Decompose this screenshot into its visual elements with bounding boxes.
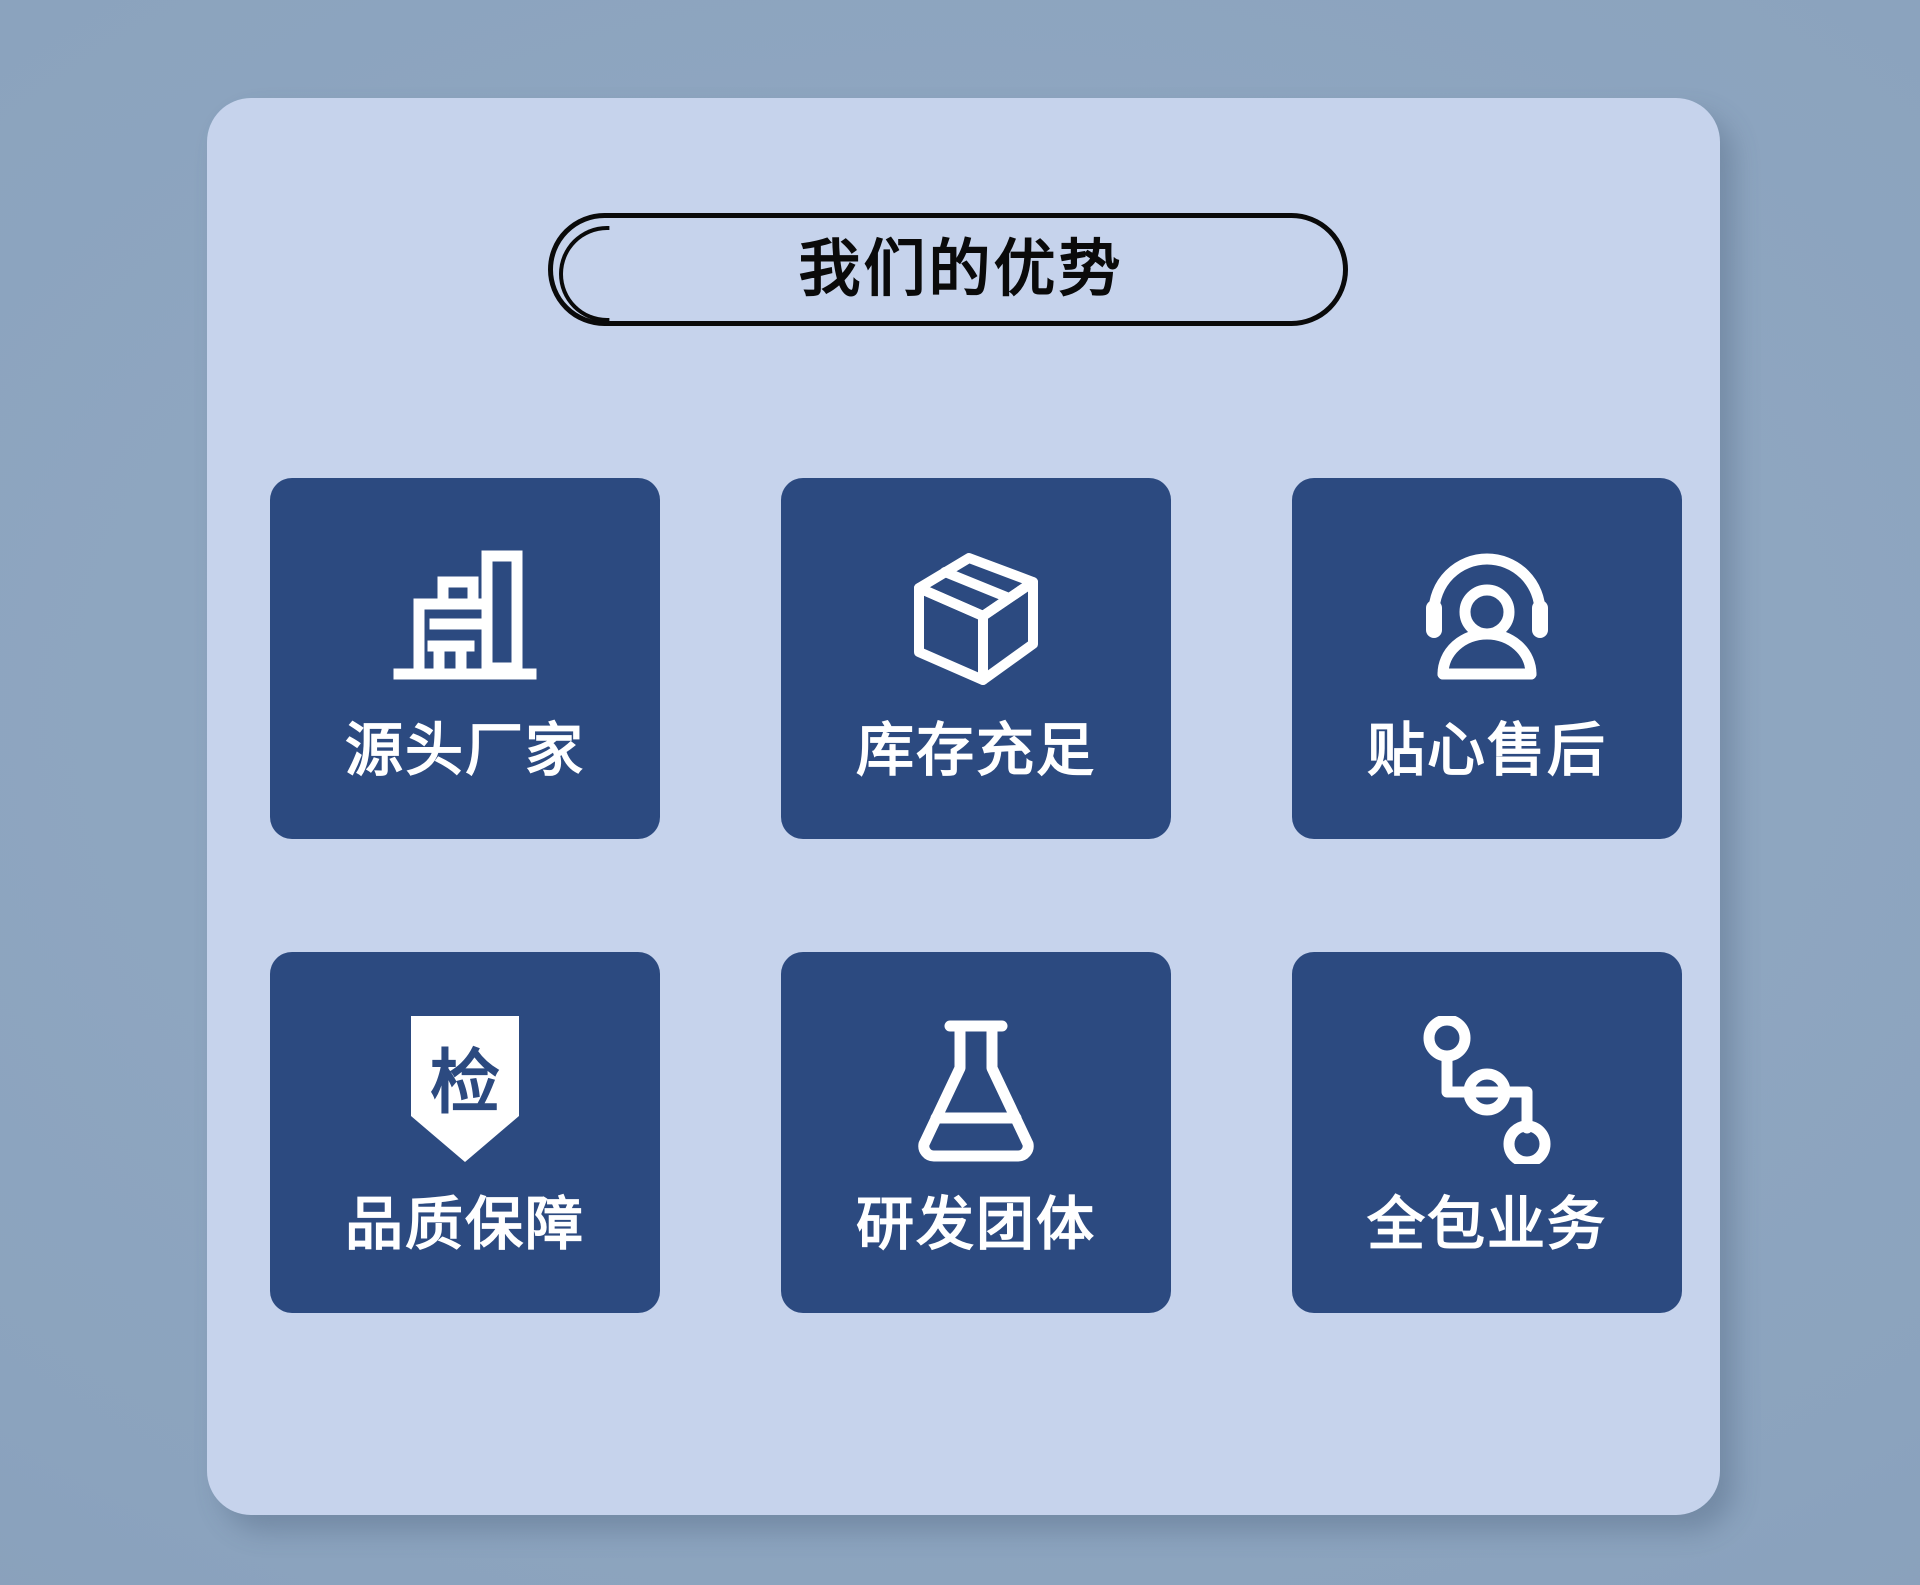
advantage-card-quality[interactable]: 检 品质保障 — [270, 952, 660, 1313]
advantage-card-stock[interactable]: 库存充足 — [781, 478, 1171, 839]
advantage-card-after-sales[interactable]: 贴心售后 — [1292, 478, 1682, 839]
factory-icon — [381, 536, 549, 696]
flask-icon — [892, 1010, 1060, 1170]
advantages-panel: 我们的优势 — [207, 98, 1720, 1515]
advantage-card-label: 贴心售后 — [1367, 722, 1607, 780]
page-title: 我们的优势 — [553, 218, 1343, 321]
advantage-card-label: 研发团体 — [856, 1196, 1096, 1254]
advantage-card-label: 库存充足 — [856, 722, 1096, 780]
inspection-badge-char: 检 — [430, 1043, 500, 1121]
section-title-pill: 我们的优势 — [548, 213, 1348, 326]
advantage-card-rnd[interactable]: 研发团体 — [781, 952, 1171, 1313]
advantage-card-label: 品质保障 — [345, 1196, 585, 1254]
advantage-card-label: 全包业务 — [1367, 1196, 1607, 1254]
workflow-nodes-icon — [1403, 1010, 1571, 1170]
advantage-card-source-factory[interactable]: 源头厂家 — [270, 478, 660, 839]
page-root: 我们的优势 — [0, 0, 1920, 1585]
advantages-grid: 源头厂家 库存充足 — [270, 478, 1662, 1313]
advantage-card-full-service[interactable]: 全包业务 — [1292, 952, 1682, 1313]
advantage-card-label: 源头厂家 — [345, 722, 585, 780]
box-icon — [892, 536, 1060, 696]
inspection-badge-icon: 检 — [381, 1010, 549, 1170]
headset-support-icon — [1403, 536, 1571, 696]
